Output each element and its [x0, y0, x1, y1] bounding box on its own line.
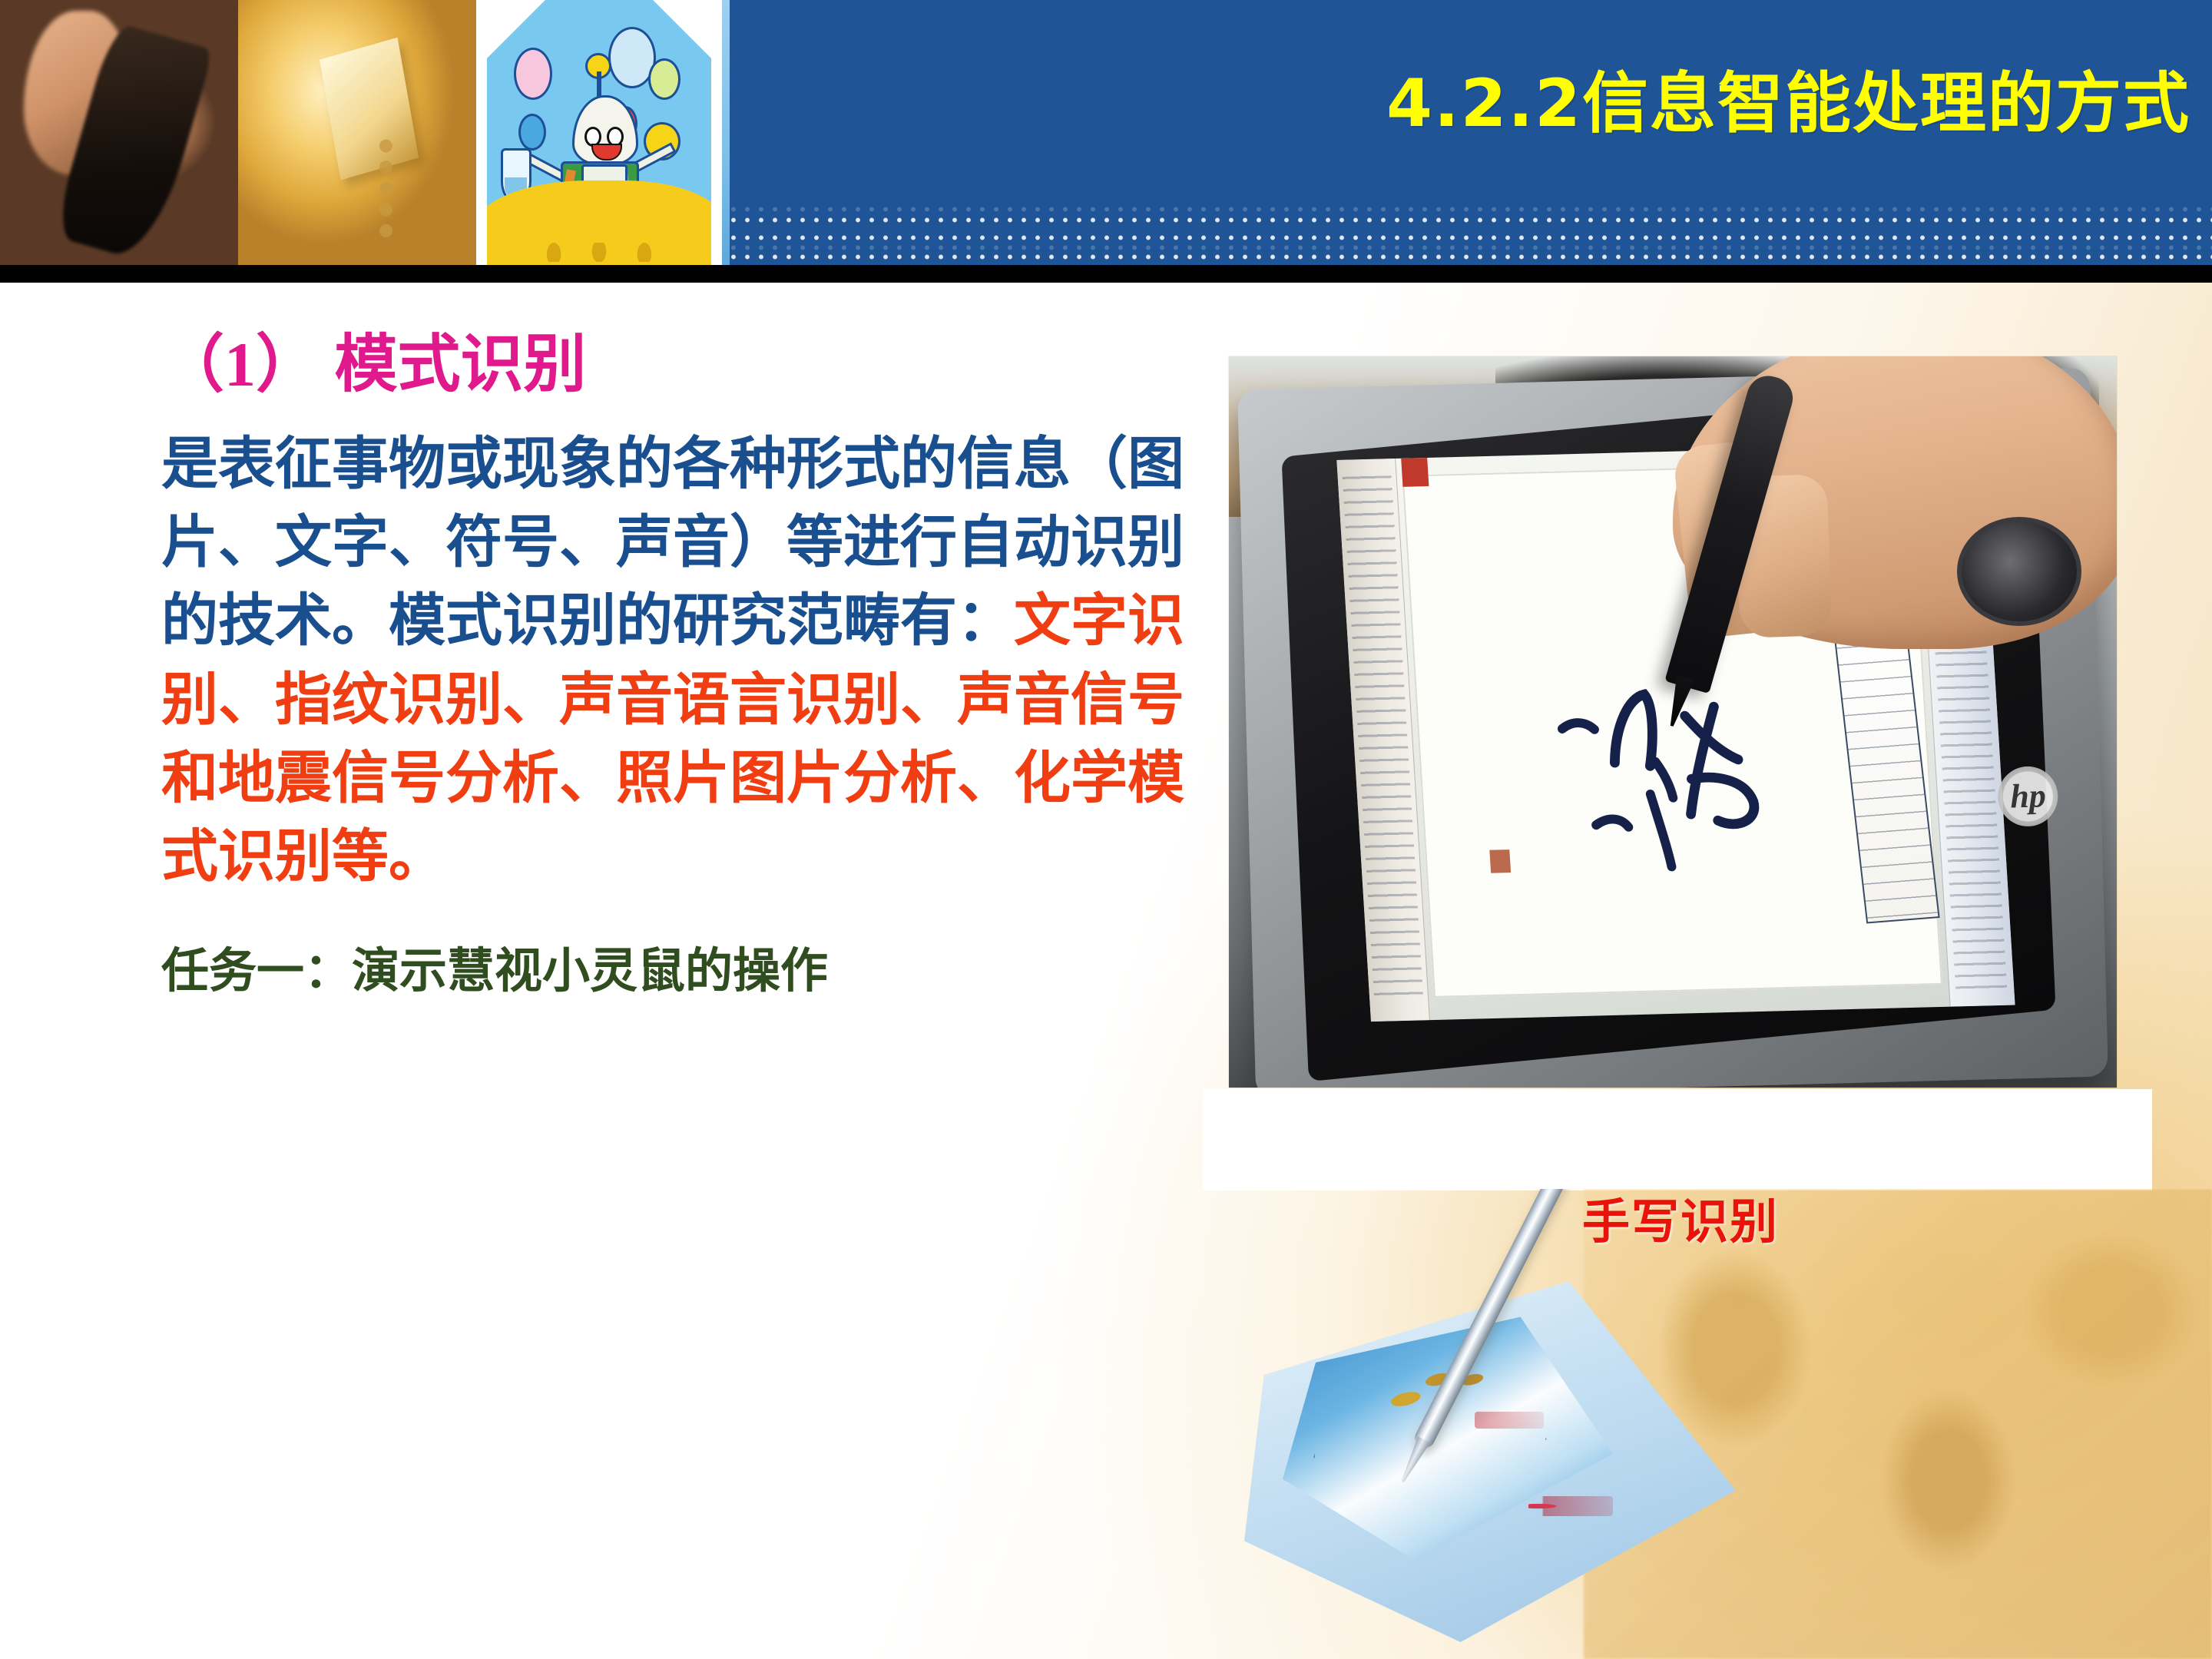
- photo-caption-band: [1203, 1089, 2152, 1190]
- screen-red-tab: [1401, 458, 1429, 486]
- header-dotline-1: [727, 206, 2212, 213]
- handwriting-recognition-caption: 手写识别: [1582, 1197, 1779, 1249]
- digitizer-brand-badge-top: [1475, 1412, 1544, 1429]
- header-dotline-4: [727, 244, 2212, 251]
- balloon-green-icon: [648, 58, 680, 100]
- cartoon-robot-illustration: [476, 0, 722, 265]
- task-line: 任务一：演示慧视小灵鼠的操作: [161, 942, 1206, 1002]
- digitizer-brand-badge: [1528, 1496, 1613, 1516]
- header-dotline-3: [727, 234, 2212, 241]
- balloon-pink-icon: [514, 48, 552, 100]
- balloon-blue-icon: [518, 114, 546, 151]
- header-black-rule: [0, 265, 2212, 283]
- content-text-block: （1） 模式识别 是表征事物或现象的各种形式的信息（图片、文字、符号、声音）等进…: [161, 330, 1206, 1002]
- screen-red-stamp: [1490, 849, 1512, 873]
- robot-card: [487, 0, 711, 265]
- header-banner-left-edge: [722, 0, 730, 265]
- slide-root: 4.2.2信息智能处理的方式 （1） 模式识别 是表征事物或现象的各种形式的信息…: [0, 0, 2212, 1659]
- hand-writing-photo: [0, 0, 238, 265]
- tablet-handwriting-photo: hp: [1229, 356, 2117, 1088]
- header-thumbnail-strip: [0, 0, 722, 265]
- page-title: 4.2.2信息智能处理的方式: [1386, 71, 2190, 137]
- digitizer-tablet-photo: [1198, 1189, 2212, 1659]
- ground-shape: [487, 180, 711, 265]
- header-dotline-5: [727, 253, 2212, 260]
- robot-antenna-icon: [597, 71, 601, 98]
- section-heading: （1） 模式识别: [161, 330, 1206, 399]
- hp-logo: hp: [1998, 766, 2059, 827]
- gold-ingots-photo: [238, 0, 476, 265]
- robot-mouth: [591, 144, 622, 161]
- header-dotline-2: [727, 217, 2212, 224]
- wristwatch: [1957, 517, 2081, 626]
- slide-header: 4.2.2信息智能处理的方式: [0, 0, 2212, 283]
- handwriting-ink-strokes: [1544, 672, 1841, 904]
- definition-paragraph: 是表征事物或现象的各种形式的信息（图片、文字、符号、声音）等进行自动识别的技术。…: [161, 426, 1206, 896]
